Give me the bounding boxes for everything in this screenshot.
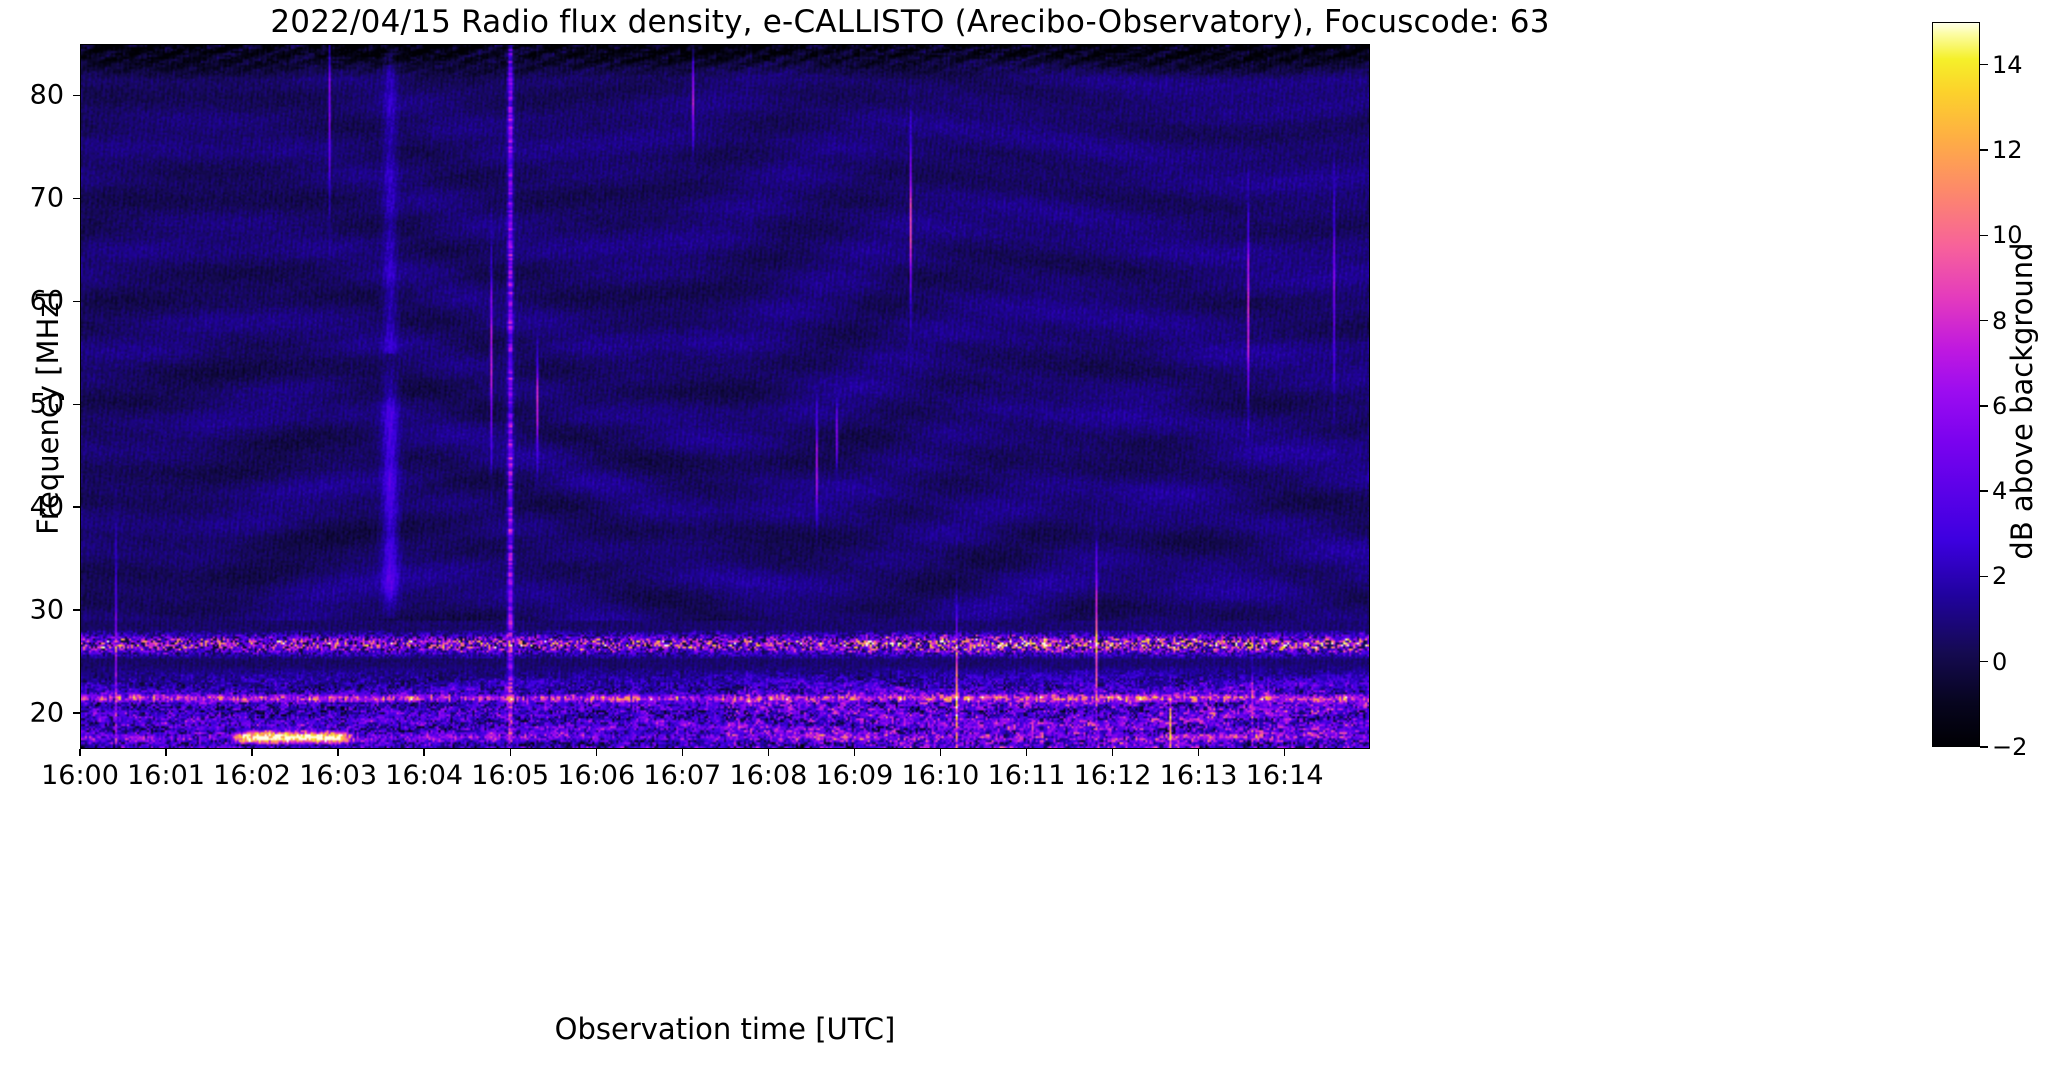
x-tick-label: 16:13 [1160, 760, 1238, 791]
colorbar-tick-mark [1980, 235, 1988, 236]
colorbar-tick-mark [1980, 64, 1988, 65]
x-tick-label: 16:04 [385, 760, 463, 791]
x-tick-mark [165, 749, 166, 756]
x-tick-label: 16:03 [299, 760, 377, 791]
x-tick-mark [854, 749, 855, 756]
y-tick-mark [73, 712, 80, 713]
y-axis-label: Frequency [MHz] [31, 93, 65, 733]
page-title: 2022/04/15 Radio flux density, e-CALLIST… [0, 4, 1820, 40]
x-tick-mark [1112, 749, 1113, 756]
x-tick-label: 16:14 [1246, 760, 1324, 791]
spectrogram-plot [80, 44, 1370, 749]
y-tick-mark [73, 198, 80, 199]
x-tick-label: 16:10 [902, 760, 980, 791]
colorbar-tick-mark [1980, 320, 1988, 321]
y-tick-mark [73, 506, 80, 507]
x-tick-mark [940, 749, 941, 756]
colorbar-tick-mark [1980, 490, 1988, 491]
y-tick-mark [73, 301, 80, 302]
spectrogram-image [81, 45, 1369, 748]
x-tick-mark [682, 749, 683, 756]
x-tick-mark [510, 749, 511, 756]
x-tick-mark [1198, 749, 1199, 756]
x-tick-mark [251, 749, 252, 756]
colorbar-tick-mark [1980, 576, 1988, 577]
colorbar-label: dB above background [2005, 81, 2039, 721]
colorbar-gradient [1932, 22, 1980, 747]
x-tick-label: 16:08 [729, 760, 807, 791]
colorbar: 14121086420−2 dB above background [1932, 22, 1980, 747]
x-tick-mark [1284, 749, 1285, 756]
x-tick-mark [1026, 749, 1027, 756]
x-axis-label: Observation time [UTC] [80, 1012, 1370, 1046]
x-tick-label: 16:02 [213, 760, 291, 791]
x-tick-mark [337, 749, 338, 756]
x-tick-label: 16:11 [988, 760, 1066, 791]
x-tick-label: 16:09 [815, 760, 893, 791]
x-tick-label: 16:06 [557, 760, 635, 791]
colorbar-tick-mark [1980, 661, 1988, 662]
colorbar-tick-mark [1980, 149, 1988, 150]
colorbar-tick-mark [1980, 746, 1988, 747]
colorbar-tick-mark [1980, 405, 1988, 406]
y-tick-mark [73, 95, 80, 96]
x-tick-label: 16:07 [643, 760, 721, 791]
y-tick-mark [73, 609, 80, 610]
colorbar-tick-label: −2 [1992, 733, 2027, 761]
x-tick-mark [423, 749, 424, 756]
colorbar-tick-label: 14 [1992, 51, 2023, 79]
x-tick-mark [79, 749, 80, 756]
x-tick-label: 16:01 [127, 760, 205, 791]
x-tick-label: 16:00 [41, 760, 119, 791]
x-tick-label: 16:05 [471, 760, 549, 791]
x-tick-mark [596, 749, 597, 756]
x-tick-mark [768, 749, 769, 756]
x-tick-label: 16:12 [1074, 760, 1152, 791]
y-tick-mark [73, 404, 80, 405]
